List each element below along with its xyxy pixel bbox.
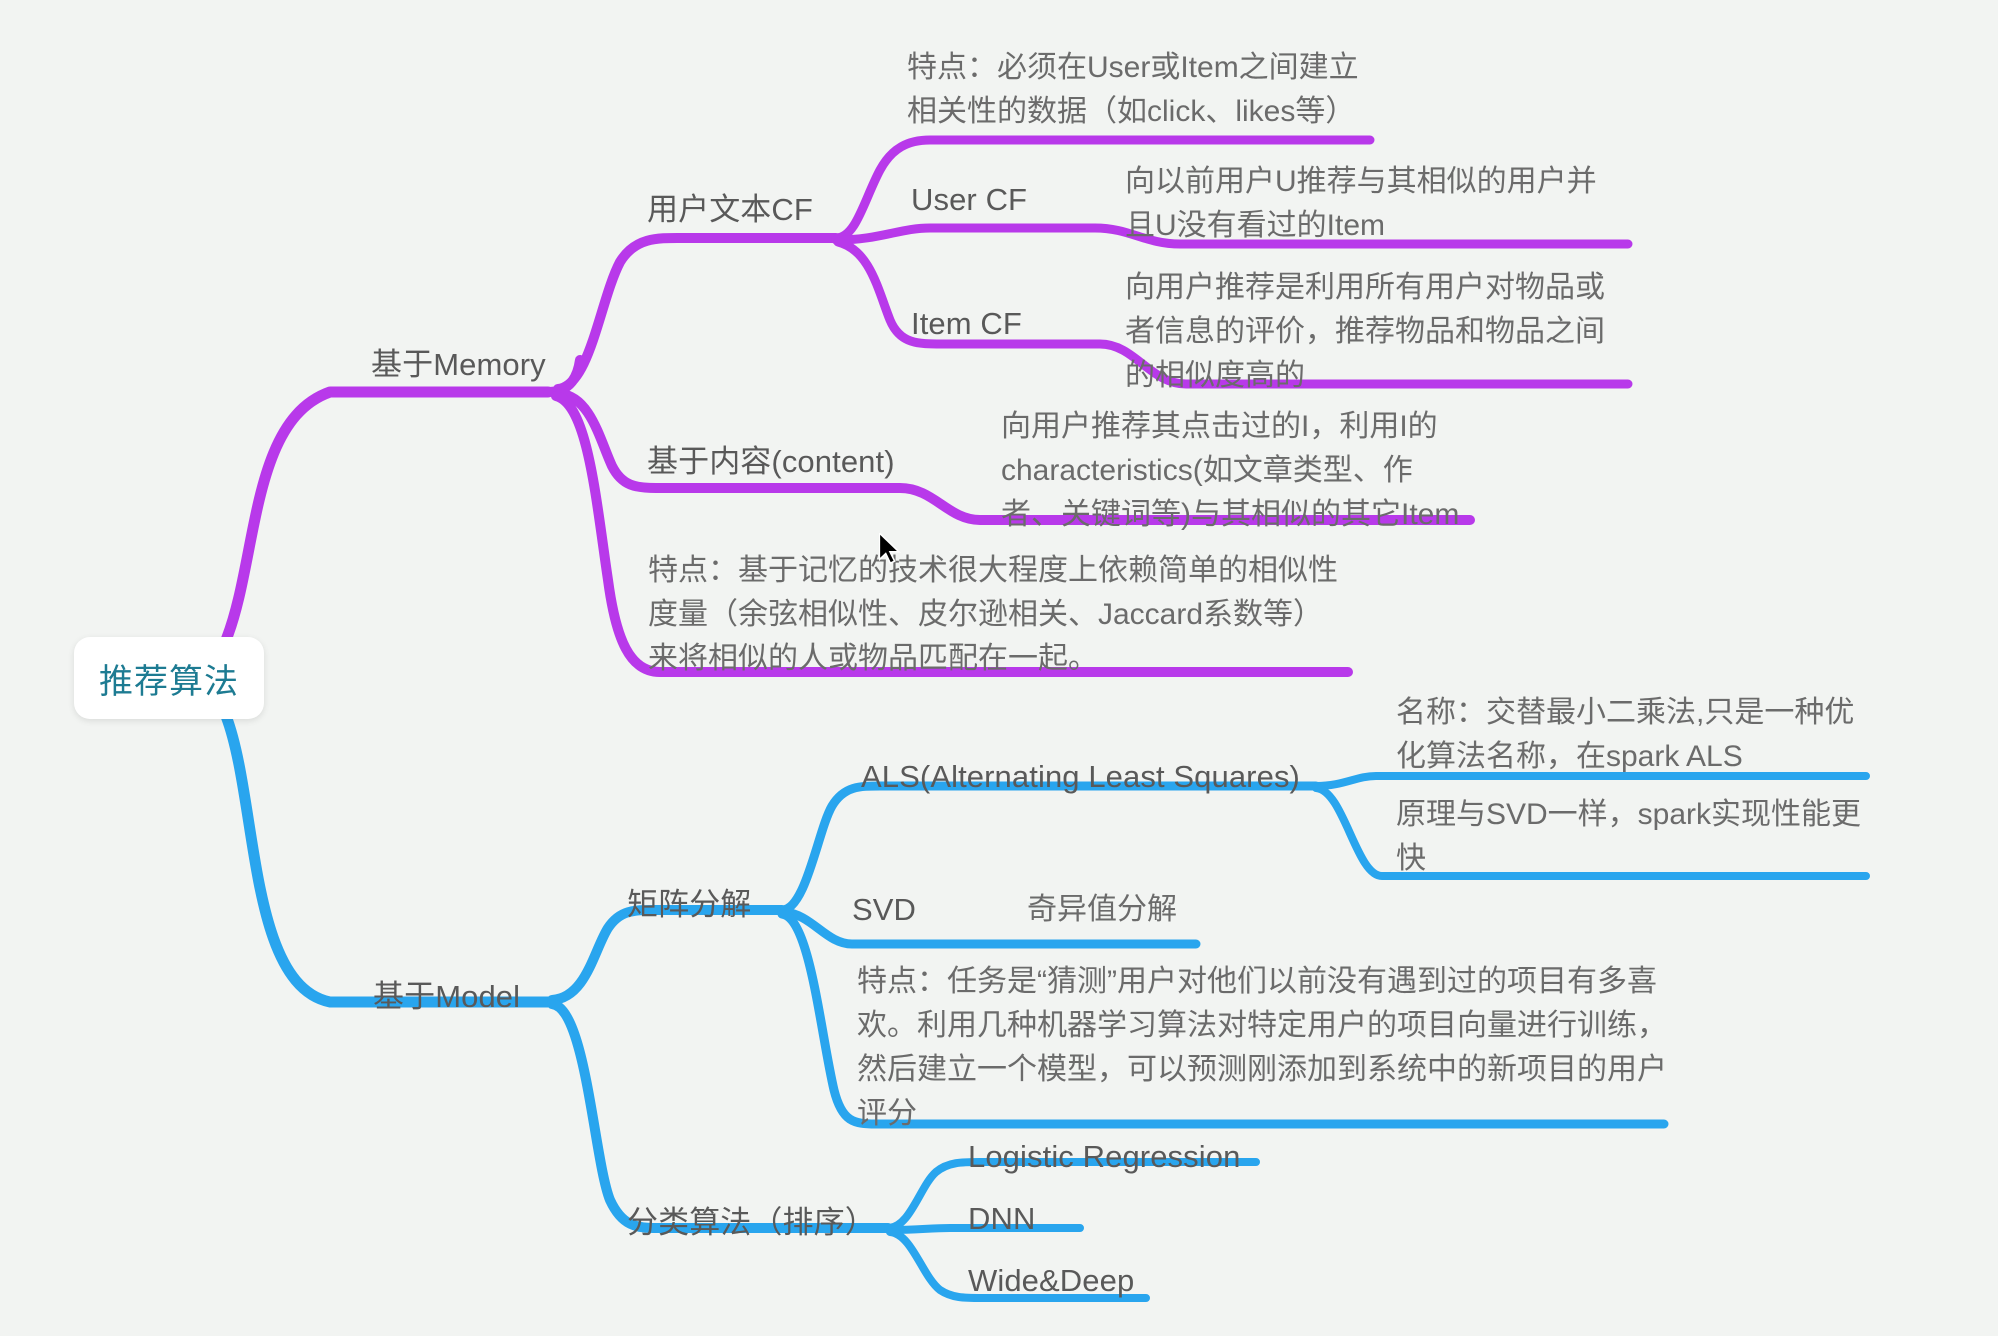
node-user-cf[interactable]: User CF [911,180,1027,219]
branch-root-to-model [226,716,548,1002]
note-model-feature-line-3: 然后建立一个模型，可以预测刚添加到系统中的新项目的用户 [857,1050,1667,1089]
note-als-principle-line-1: 原理与SVD一样，spark实现性能更 [1396,795,1861,834]
note-als-principle-line-2: 快 [1396,839,1426,878]
note-user-text-cf-line-2: 相关性的数据（如click、likes等） [907,92,1355,131]
note-svd-line-1: 奇异值分解 [1027,890,1177,929]
node-matrix-factorization[interactable]: 矩阵分解 [627,885,751,924]
note-item-cf-line-2: 者信息的评价，推荐物品和物品之间 [1125,312,1605,351]
note-item-cf-line-3: 的相似度高的 [1125,356,1305,395]
node-als[interactable]: ALS(Alternating Least Squares) [861,757,1300,796]
node-item-cf[interactable]: Item CF [911,304,1022,343]
node-user-text-cf[interactable]: 用户文本CF [647,190,813,229]
branch-root-to-memory [226,392,548,640]
note-model-feature-line-4: 评分 [857,1094,917,1133]
node-content-based[interactable]: 基于内容(content) [647,442,895,481]
branch-memory-to-usertextcf [558,238,836,389]
note-content-based-line-1: 向用户推荐其点击过的I，利用I的 [1001,407,1438,446]
note-user-cf-line-1: 向以前用户U推荐与其相似的用户并 [1125,162,1597,201]
node-dnn[interactable]: DNN [968,1199,1035,1238]
node-logistic-regression[interactable]: Logistic Regression [968,1137,1240,1176]
branch-als-to-note1 [1316,776,1866,786]
note-content-based-line-2: characteristics(如文章类型、作 [1001,451,1413,490]
note-als-name-line-2: 化算法名称，在spark ALS [1396,737,1743,776]
node-model-based[interactable]: 基于Model [373,977,520,1016]
note-item-cf-line-1: 向用户推荐是利用所有用户对物品或 [1125,268,1605,307]
node-classification[interactable]: 分类算法（排序） [627,1203,876,1242]
node-svd[interactable]: SVD [852,890,916,929]
node-wide-and-deep[interactable]: Wide&Deep [968,1261,1134,1300]
root-node-label: 推荐算法 [99,654,239,703]
note-model-feature-line-2: 欢。利用几种机器学习算法对特定用户的项目向量进行训练， [857,1006,1667,1045]
note-model-feature-line-1: 特点：任务是“猜测”用户对他们以前没有遇到过的项目有多喜 [857,962,1657,1001]
note-user-cf-line-2: 且U没有看过的Item [1125,206,1385,245]
note-content-based-line-3: 者、关键词等)与其相似的其它Item [1001,495,1459,534]
note-user-text-cf-line-1: 特点：必须在User或Item之间建立 [907,48,1359,87]
branch-model-to-classification [552,1004,888,1228]
note-memory-feature-line-1: 特点：基于记忆的技术很大程度上依赖简单的相似性 [648,551,1338,590]
note-memory-feature-line-2: 度量（余弦相似性、皮尔逊相关、Jaccard系数等） [648,595,1323,634]
note-als-name-line-1: 名称：交替最小二乘法,只是一种优 [1396,693,1854,732]
node-memory-based[interactable]: 基于Memory [371,345,546,384]
note-memory-feature-line-3: 来将相似的人或物品匹配在一起。 [648,639,1098,678]
root-node[interactable]: 推荐算法 [74,637,264,719]
